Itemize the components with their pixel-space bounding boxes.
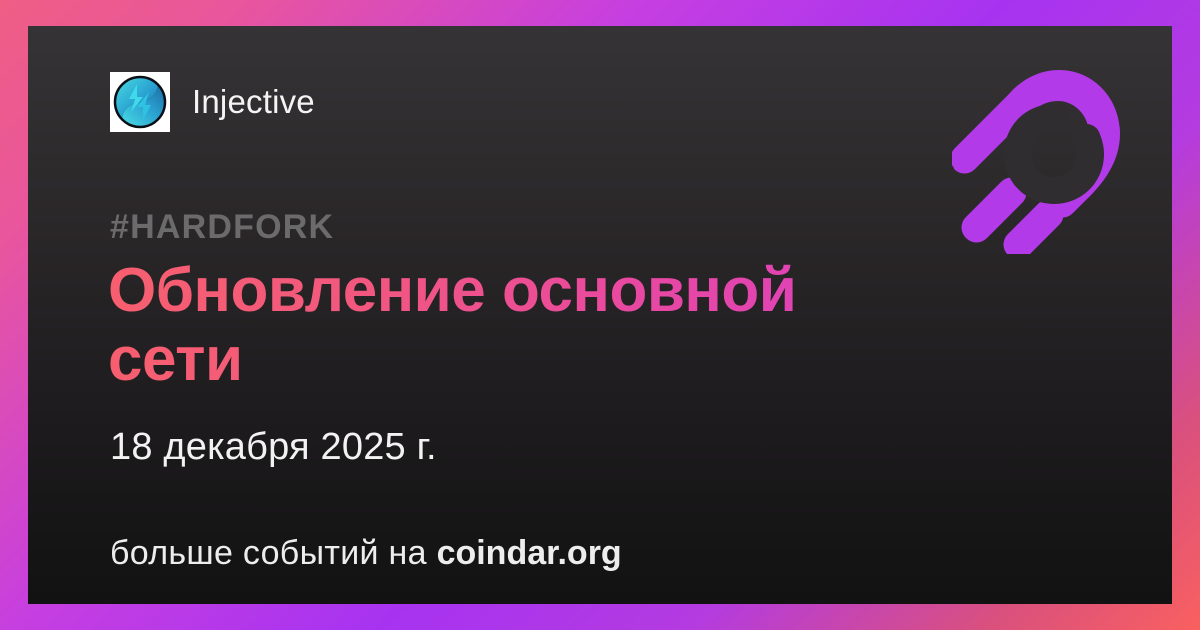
footer-prefix: больше событий на bbox=[110, 534, 437, 572]
footer-note: больше событий на coindar.org bbox=[110, 534, 622, 573]
coin-name: Injective bbox=[192, 83, 315, 121]
gradient-frame: Injective #HARDFORK Обновление основной … bbox=[0, 0, 1200, 630]
event-date: 18 декабря 2025 г. bbox=[110, 426, 437, 469]
coindar-jellyfish-icon bbox=[952, 64, 1122, 254]
page-title: Обновление основной сети bbox=[108, 256, 928, 395]
event-tag: #HARDFORK bbox=[110, 208, 334, 247]
brand-row: Injective bbox=[110, 72, 315, 132]
event-card: Injective #HARDFORK Обновление основной … bbox=[28, 26, 1172, 604]
injective-logo-icon bbox=[110, 72, 170, 132]
footer-site: coindar.org bbox=[437, 534, 622, 572]
